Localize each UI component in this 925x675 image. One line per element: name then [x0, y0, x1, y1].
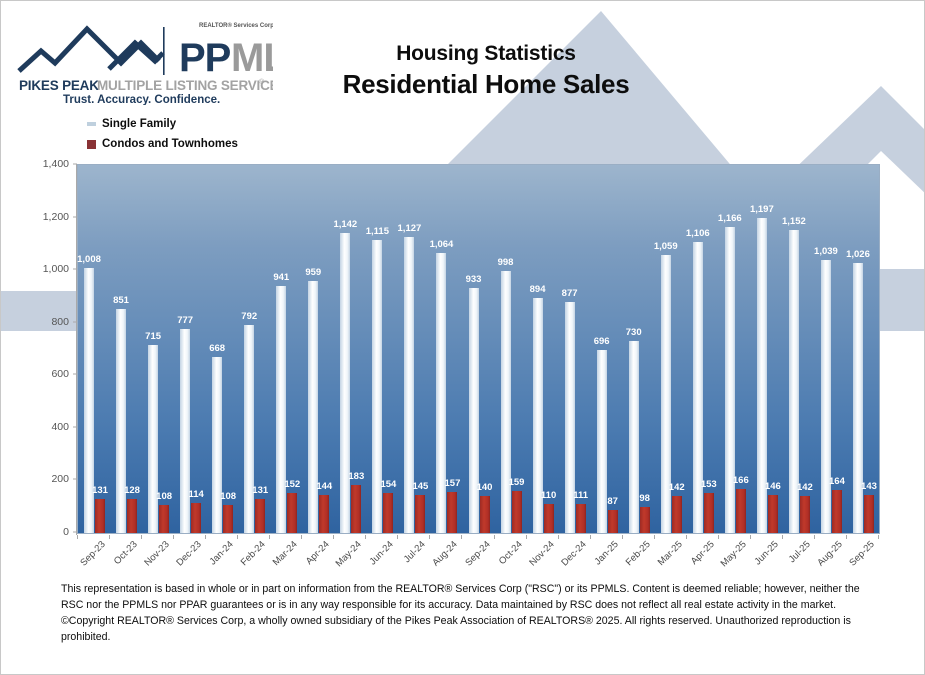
mountain-range-icon: [19, 29, 163, 71]
x-axis-tick-label: Aug-24: [431, 539, 460, 568]
bar-single-family: [469, 288, 479, 533]
bar-value-label-single-family: 1,152: [782, 216, 806, 227]
y-axis-tick-label: 1,200: [43, 211, 69, 223]
bar-condos: [480, 496, 490, 533]
x-axis-tick-mark: [846, 535, 847, 539]
y-axis-tick-mark: [73, 426, 77, 427]
legend-swatch-icon-single-family: [87, 122, 96, 126]
x-axis-tick-label: Jan-24: [208, 539, 236, 567]
bar-value-label-condos: 164: [829, 476, 845, 487]
x-axis-tick-label: Apr-24: [304, 539, 332, 567]
x-axis-tick-mark: [654, 535, 655, 539]
y-axis: 02004006008001,0001,2001,400: [19, 164, 73, 534]
bar-value-label-condos: 98: [639, 493, 650, 504]
ppmls-logo: PP MLS REALTOR® Services Corp. PIKES PEA…: [13, 13, 273, 105]
bar-value-label-single-family: 696: [594, 336, 610, 347]
bar-condos: [768, 495, 778, 533]
chart-legend: Single Family Condos and Townhomes: [87, 115, 347, 155]
x-axis-tick-mark: [109, 535, 110, 539]
x-axis-tick-mark: [237, 535, 238, 539]
x-axis-tick-mark: [429, 535, 430, 539]
bar-value-label-single-family: 941: [273, 272, 289, 283]
bar-single-family: [629, 341, 639, 533]
bar-value-label-condos: 108: [156, 491, 172, 502]
x-axis-tick-mark: [782, 535, 783, 539]
bar-single-family: [212, 357, 222, 533]
bar-condos: [191, 503, 201, 533]
y-axis-tick-label: 0: [63, 526, 69, 538]
bar-condos: [127, 499, 137, 533]
bar-condos: [415, 495, 425, 533]
y-axis-tick-mark: [73, 164, 77, 165]
bar-value-label-single-family: 777: [177, 315, 193, 326]
bar-value-label-condos: 140: [477, 482, 493, 493]
y-axis-tick-label: 200: [51, 473, 69, 485]
bar-value-label-single-family: 1,115: [366, 226, 389, 237]
x-axis-tick-label: Nov-23: [142, 539, 171, 568]
x-axis-tick-mark: [526, 535, 527, 539]
bar-value-label-single-family: 1,166: [718, 213, 742, 224]
bar-value-label-condos: 159: [509, 477, 525, 488]
x-axis-tick-label: Jul-25: [787, 539, 813, 565]
y-axis-tick-label: 600: [51, 368, 69, 380]
bar-value-label-condos: 131: [92, 485, 108, 496]
bar-value-label-single-family: 1,127: [398, 223, 422, 234]
bar-single-family: [853, 263, 863, 533]
legend-item-single-family: Single Family: [87, 115, 347, 133]
bar-condos: [736, 489, 746, 533]
y-axis-tick-mark: [73, 269, 77, 270]
bar-value-label-single-family: 894: [530, 284, 546, 295]
x-axis-tick-label: Feb-24: [239, 539, 268, 568]
bar-single-family: [180, 329, 190, 533]
bar-single-family: [436, 253, 446, 533]
legend-label-single-family: Single Family: [102, 118, 176, 130]
x-axis-tick-label: Sep-25: [847, 539, 876, 568]
bar-condos: [800, 496, 810, 533]
bar-value-label-single-family: 933: [466, 274, 482, 285]
x-axis-tick-label: Dec-23: [174, 539, 203, 568]
bar-value-label-condos: 110: [541, 490, 556, 501]
y-axis-tick-mark: [73, 216, 77, 217]
bar-single-family: [821, 260, 831, 533]
bar-value-label-single-family: 959: [305, 267, 321, 278]
svg-text:PP: PP: [179, 36, 231, 80]
bar-condos: [255, 499, 265, 533]
bar-value-label-single-family: 1,197: [750, 204, 774, 215]
y-axis-tick-label: 1,400: [43, 158, 69, 170]
bar-value-label-single-family: 792: [241, 311, 257, 322]
bar-condos: [287, 493, 297, 533]
bar-condos: [832, 490, 842, 533]
x-axis-tick-mark: [494, 535, 495, 539]
bar-value-label-condos: 157: [445, 478, 461, 489]
bar-value-label-condos: 131: [252, 485, 268, 496]
bar-value-label-single-family: 1,142: [333, 219, 357, 230]
bar-value-label-single-family: 877: [562, 288, 578, 299]
bar-value-label-single-family: 1,026: [846, 249, 870, 260]
bar-condos: [447, 492, 457, 533]
bar-single-family: [725, 227, 735, 533]
bar-value-label-single-family: 1,039: [814, 246, 838, 257]
bar-condos: [608, 510, 618, 533]
bar-value-label-single-family: 730: [626, 327, 642, 338]
x-axis-tick-label: Oct-23: [112, 539, 140, 567]
bar-condos: [159, 505, 169, 533]
svg-text:®: ®: [259, 78, 265, 86]
bar-value-label-condos: 154: [380, 479, 396, 490]
x-axis-tick-label: Sep-24: [463, 539, 492, 568]
svg-text:PIKES PEAK: PIKES PEAK: [19, 78, 99, 93]
y-axis-tick-mark: [73, 532, 77, 533]
x-axis-tick-mark: [686, 535, 687, 539]
x-axis-tick-mark: [814, 535, 815, 539]
x-axis-tick-mark: [750, 535, 751, 539]
bar-value-label-single-family: 998: [498, 257, 514, 268]
x-axis-tick-mark: [333, 535, 334, 539]
bar-value-label-condos: 108: [220, 491, 236, 502]
x-axis-tick-mark: [77, 535, 78, 539]
bar-value-label-single-family: 1,106: [686, 228, 710, 239]
y-axis-tick-label: 800: [51, 316, 69, 328]
bar-value-label-single-family: 1,008: [77, 254, 101, 265]
bar-value-label-condos: 142: [797, 482, 813, 493]
x-axis-tick-mark: [590, 535, 591, 539]
bar-single-family: [501, 271, 511, 533]
svg-text:MLS: MLS: [231, 36, 273, 80]
legend-swatch-icon-condos: [87, 140, 96, 149]
chart-subtitle: Housing Statistics: [291, 41, 681, 66]
bar-value-label-condos: 183: [348, 471, 364, 482]
bar-single-family: [244, 325, 254, 533]
x-axis-tick-mark: [269, 535, 270, 539]
svg-text:Trust. Accuracy. Confidence.: Trust. Accuracy. Confidence.: [63, 94, 220, 105]
y-axis-tick-label: 400: [51, 421, 69, 433]
bar-condos: [512, 491, 522, 533]
x-axis-tick-label: Mar-24: [271, 539, 300, 568]
x-axis-tick-mark: [461, 535, 462, 539]
bar-condos: [544, 504, 554, 533]
y-axis-tick-mark: [73, 321, 77, 322]
svg-text:REALTOR® Services Corp.: REALTOR® Services Corp.: [199, 22, 273, 29]
x-axis-tick-label: May-24: [334, 539, 364, 569]
y-axis-tick-mark: [73, 479, 77, 480]
x-axis-tick-label: Nov-24: [527, 539, 556, 568]
x-axis-tick-mark: [622, 535, 623, 539]
bar-value-label-single-family: 1,059: [654, 241, 678, 252]
chart-title: Residential Home Sales: [291, 68, 681, 101]
bar-condos: [223, 505, 233, 533]
x-axis-tick-label: Jun-24: [368, 539, 396, 567]
x-axis-tick-label: Jun-25: [752, 539, 780, 567]
bar-value-label-single-family: 668: [209, 343, 225, 354]
x-axis-tick-mark: [173, 535, 174, 539]
bar-value-label-condos: 166: [733, 475, 749, 486]
bar-condos: [864, 495, 874, 533]
x-axis-tick-mark: [365, 535, 366, 539]
bar-value-label-condos: 114: [188, 489, 203, 500]
legend-item-condos: Condos and Townhomes: [87, 135, 347, 153]
slide-canvas: PP MLS REALTOR® Services Corp. PIKES PEA…: [0, 0, 925, 675]
legend-label-condos: Condos and Townhomes: [102, 138, 238, 150]
disclaimer-text: This representation is based in whole or…: [61, 581, 873, 645]
x-axis-tick-mark: [558, 535, 559, 539]
bar-single-family: [597, 350, 607, 533]
bar-single-family: [116, 309, 126, 533]
bar-value-label-condos: 144: [316, 481, 332, 492]
bar-condos: [351, 485, 361, 533]
bar-value-label-condos: 145: [412, 481, 428, 492]
bar-value-label-condos: 87: [607, 496, 618, 507]
bar-value-label-condos: 146: [765, 481, 781, 492]
x-axis-tick-label: Jan-25: [592, 539, 620, 567]
y-axis-tick-label: 1,000: [43, 263, 69, 275]
bar-single-family: [148, 345, 158, 533]
bar-value-label-condos: 142: [669, 482, 685, 493]
svg-text:MULTIPLE LISTING SERVICE: MULTIPLE LISTING SERVICE: [97, 78, 273, 93]
x-axis-tick-mark: [141, 535, 142, 539]
bar-value-label-single-family: 715: [145, 331, 161, 342]
bar-value-label-condos: 143: [861, 481, 877, 492]
x-axis: Sep-23Oct-23Nov-23Dec-23Jan-24Feb-24Mar-…: [77, 535, 880, 583]
bar-value-label-single-family: 851: [113, 295, 129, 306]
x-axis-tick-mark: [397, 535, 398, 539]
x-axis-tick-label: Sep-23: [78, 539, 107, 568]
bar-condos: [672, 496, 682, 533]
x-axis-tick-label: May-25: [718, 539, 748, 569]
chart-title-group: Housing Statistics Residential Home Sale…: [291, 41, 681, 101]
bar-single-family: [276, 286, 286, 533]
bar-condos: [640, 507, 650, 533]
bar-single-family: [340, 233, 350, 533]
x-axis-tick-mark: [205, 535, 206, 539]
x-axis-tick-label: Apr-25: [689, 539, 717, 567]
x-axis-tick-label: Aug-25: [815, 539, 844, 568]
bar-single-family: [308, 281, 318, 533]
bar-condos: [704, 493, 714, 533]
bar-condos: [576, 504, 586, 533]
x-axis-tick-label: Oct-24: [496, 539, 524, 567]
x-axis-tick-mark: [878, 535, 879, 539]
plot-area: 1,00813185112871510877711466810879213194…: [77, 164, 880, 534]
x-axis-tick-label: Dec-24: [559, 539, 588, 568]
x-axis-tick-label: Jul-24: [402, 539, 428, 565]
bar-value-label-single-family: 1,064: [430, 239, 454, 250]
y-axis-tick-mark: [73, 374, 77, 375]
x-axis-tick-label: Mar-25: [655, 539, 684, 568]
bar-condos: [319, 495, 329, 533]
bar-condos: [95, 499, 105, 533]
x-axis-tick-label: Feb-25: [623, 539, 652, 568]
bar-value-label-condos: 128: [124, 485, 140, 496]
x-axis-tick-mark: [718, 535, 719, 539]
bar-value-label-condos: 153: [701, 479, 717, 490]
bar-value-label-condos: 152: [284, 479, 300, 490]
bar-value-label-condos: 111: [573, 490, 588, 501]
x-axis-tick-mark: [301, 535, 302, 539]
bar-condos: [383, 493, 393, 533]
